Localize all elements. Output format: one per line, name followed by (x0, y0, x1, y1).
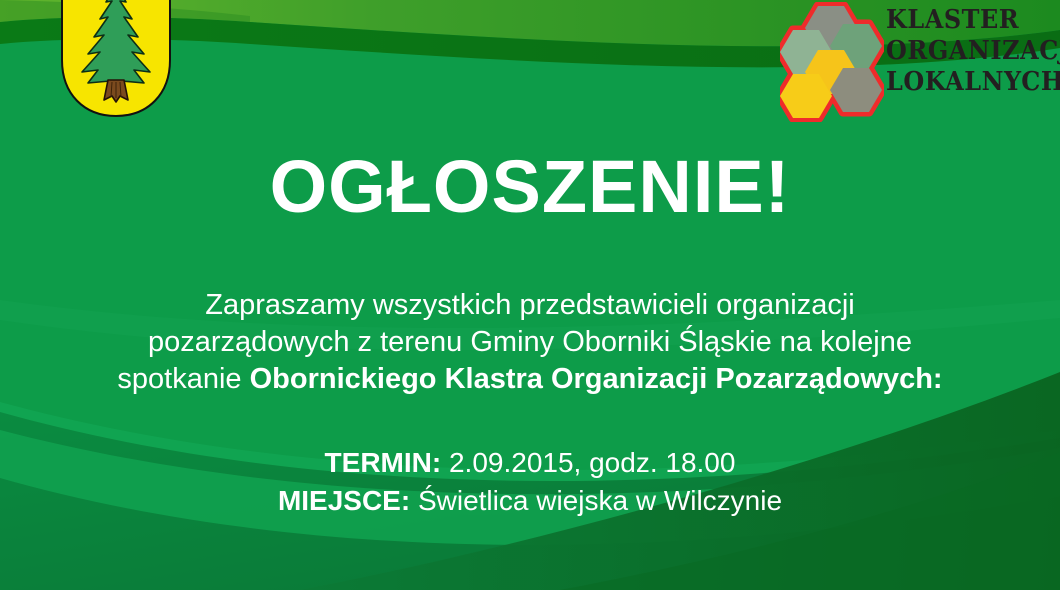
event-details: TERMIN: 2.09.2015, godz. 18.00 MIEJSCE: … (0, 444, 1060, 519)
klaster-organizacji-lokalnych-logo: KLASTER ORGANIZACJI LOKALNYCH (780, 2, 1056, 124)
logo-line-1: KLASTER (886, 6, 1060, 34)
detail-termin-label: TERMIN: (325, 447, 442, 478)
coat-of-arms (58, 0, 174, 122)
detail-miejsce-value: Świetlica wiejska w Wilczynie (410, 485, 782, 516)
logo-line-2: ORGANIZACJI (886, 37, 1060, 65)
announcement-poster: KLASTER ORGANIZACJI LOKALNYCH OGŁOSZENIE… (0, 0, 1060, 590)
logo-wordmark: KLASTER ORGANIZACJI LOKALNYCH (886, 2, 1060, 96)
detail-termin-value: 2.09.2015, godz. 18.00 (441, 447, 735, 478)
invitation-paragraph: Zapraszamy wszystkich przedstawicieli or… (104, 287, 956, 398)
detail-termin: TERMIN: 2.09.2015, godz. 18.00 (0, 444, 1060, 482)
logo-line-3: LOKALNYCH (886, 68, 1060, 96)
detail-miejsce-label: MIEJSCE: (278, 485, 410, 516)
page-title: OGŁOSZENIE! (0, 150, 1060, 224)
invitation-emphasis: Obornickiego Klastra Organizacji Pozarzą… (250, 363, 943, 395)
hexagon-cluster-icon (780, 2, 884, 122)
detail-miejsce: MIEJSCE: Świetlica wiejska w Wilczynie (0, 482, 1060, 520)
